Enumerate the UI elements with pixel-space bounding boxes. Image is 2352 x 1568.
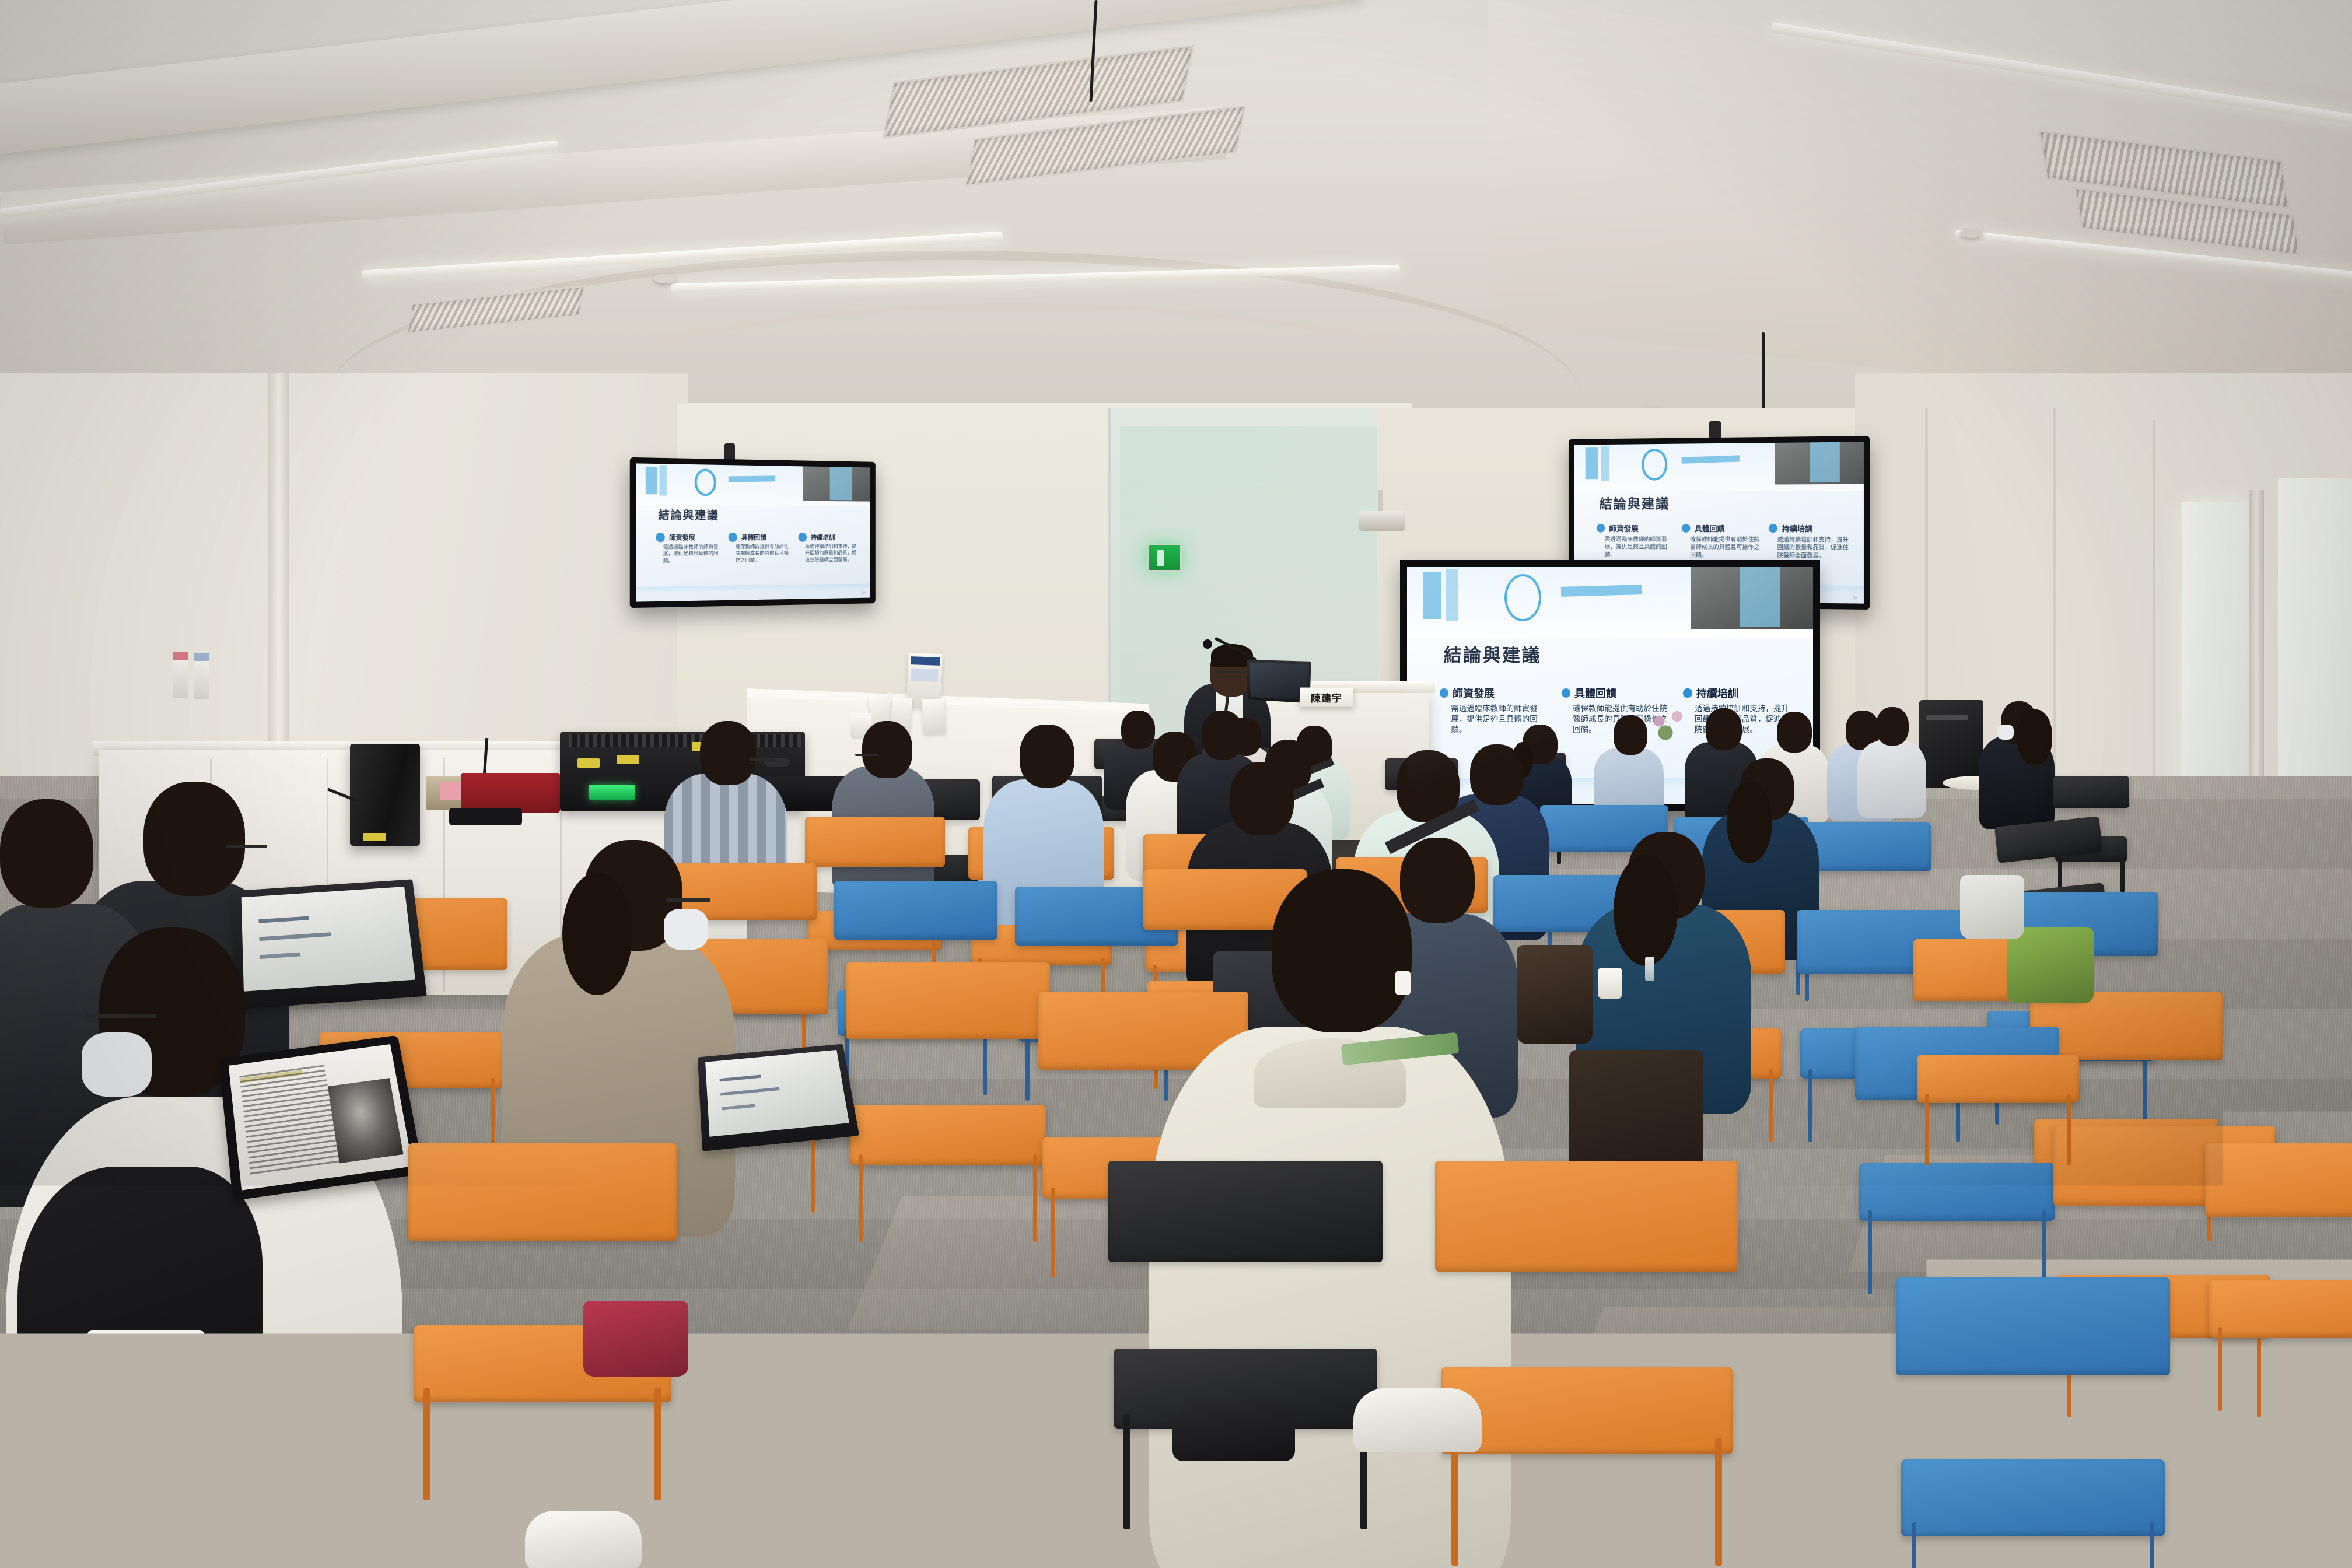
slide-accent-bar [1601,446,1609,481]
conference-room-photo: 結論與建議 師資發展 需透過臨床教師的師資發展，提供足夠且具體的回饋。 具體回饋… [0,0,2352,1568]
slide-column-heading: 師資發展 [1609,523,1638,534]
slide-column-body: 需透過臨床教師的師資發展，提供足夠且具體的回饋。 [663,544,721,565]
slide-column-body: 確保教師能提供有助於住院醫師成長的具體且可操作之回饋。 [736,544,792,564]
display-tv-left: 結論與建議 師資發展 需透過臨床教師的師資發展，提供足夠且具體的回饋。 具體回饋… [630,457,876,608]
slide-column-body: 透過持續培訓和支持，提升回饋的數量和品質，促進住院醫師全面發展。 [805,543,859,563]
attendee-head [143,782,245,896]
chair-leg [1715,1438,1722,1566]
chair-leg [1123,1414,1130,1529]
chair-back [2053,776,2129,808]
laptop-screen [242,887,415,992]
sneaker-dark [1172,1400,1295,1461]
chair-back [1896,1277,2170,1375]
slide-column: 師資發展 需透過臨床教師的師資發展，提供足夠且具體的回饋。 [656,533,721,565]
slide-column: 持續培訓 透過持續培訓和支持，提升回饋的數量和品質，促進住院醫師全面發展。 [799,533,859,563]
slide-accent-bar [646,466,657,494]
attendee-head [1706,708,1742,750]
bullet-dot-icon [729,533,737,541]
chair-leg [1451,1438,1458,1566]
chair-leg [1925,1094,1929,1165]
attendee-head [1470,744,1524,805]
attendee-head [1400,838,1475,923]
laptop-screen-text [258,895,397,982]
attendee-head [1121,710,1155,749]
brochure[interactable] [922,698,946,734]
attendee-hair [1727,782,1772,863]
presenter-glasses-icon [1218,671,1248,673]
slide-title: 結論與建議 [658,506,719,523]
bullet-dot-icon [1562,688,1570,697]
slide-title: 結論與建議 [1444,640,1541,667]
chair-back [1108,1161,1382,1262]
laptop-screen [705,1050,849,1137]
slide-column-heading: 持續培訓 [811,533,835,542]
bullet-dot-icon [1683,688,1692,697]
portable-pa-speaker [1919,700,1983,787]
chair-orange[interactable] [1435,1161,1738,1557]
chair-leg [1769,1069,1773,1142]
slide-column-heading: 師資發展 [1452,685,1494,701]
sneaker [525,1511,642,1568]
backpack [1517,945,1592,1044]
face-mask-icon [82,1032,152,1097]
slide-accent-bar [1585,447,1598,479]
slide-footer-band [636,583,870,593]
chair-leg [2218,1327,2222,1411]
paper-cup [1598,968,1622,999]
slide-accent-bar [728,476,775,482]
chair-leg [654,1388,661,1500]
slide-left: 結論與建議 師資發展 需透過臨床教師的師資發展，提供足夠且具體的回饋。 具體回饋… [636,463,870,601]
slide-column: 具體回饋 確保教師能提供有助於住院醫師成長的具體且可操作之回饋。 [1682,523,1760,559]
slide-accent-bar [1423,572,1441,619]
slide-column: 具體回饋 確保教師能提供有助於住院醫師成長的具體且可操作之回饋。 [729,533,792,564]
attendee-laptop-2[interactable] [232,879,427,1009]
chair-leg [1051,1188,1055,1277]
sneaker [752,1260,846,1312]
chair-leg [859,1154,863,1242]
face-mask-icon [664,909,708,950]
attendee-head [1230,762,1294,835]
ceiling-projector [1359,511,1405,531]
glasses-icon [226,845,267,848]
slide-column-heading: 持續培訓 [1782,523,1813,534]
chair-leg [1868,1210,1872,1294]
glasses-icon [855,754,878,756]
attendee-torso [1857,741,1926,818]
slide-page-number: 34 [862,591,866,595]
asset-label [577,758,600,768]
podium-nameplate: 陳建宇 [1299,688,1353,707]
chair-orange[interactable] [2205,1143,2352,1406]
chair-leg [423,1388,430,1500]
slide-title: 結論與建議 [1599,493,1670,513]
slide-column-body: 透過持續培訓和支持，提升回饋的數量和品質，促進住院醫師全面發展。 [1777,536,1849,560]
chair-leg [379,1515,386,1568]
bullet-dot-icon [799,533,807,541]
attendee-head [1272,869,1412,1032]
chair-back [834,881,998,940]
slide-column-heading: 師資發展 [669,533,695,542]
slide-accent-bar [659,465,667,495]
chair-leg [1033,1154,1037,1242]
av-speaker [350,744,420,846]
water-bottle [1645,957,1654,981]
chair-seat [1901,1459,2164,1536]
earbud-icon [1395,971,1410,995]
slide-column-heading: 持續培訓 [1696,685,1738,701]
chair-black[interactable] [1108,1161,1382,1522]
bullet-dot-icon [1682,524,1690,533]
slide-accent-bar [1445,569,1458,621]
wall-notice-card [194,653,209,699]
chair-orange[interactable] [846,963,1050,1237]
staff-hair [2017,709,2052,765]
slide-column-heading: 具體回饋 [741,533,766,542]
sneaker [1353,1388,1482,1452]
chair-seat [1441,1367,1732,1455]
bullet-dot-icon [1440,688,1448,697]
chair-back [846,963,1050,1039]
chair-leg [2150,1522,2154,1568]
white-bag [1960,875,2024,939]
chair-leg [1912,1522,1916,1568]
chair-seat [2209,1280,2352,1338]
chair-back [805,817,945,867]
glasses-icon [666,898,710,902]
chair-seat [1917,1055,2079,1104]
attendee-head [700,721,756,785]
slide-ring-logo-icon [1641,449,1667,480]
tablet-document-text [240,1065,339,1175]
chair-leg [2067,1094,2071,1165]
slide-column-heading: 具體回饋 [1695,523,1725,534]
chair-leg [2120,857,2124,892]
slide-ring-logo-icon [1504,574,1541,621]
chair-back [408,1143,677,1241]
asset-label [617,755,639,764]
chair-seat [82,1469,396,1520]
slide-page-number: 34 [1853,596,1858,600]
red-bag [583,1301,688,1377]
glasses-icon [86,1014,156,1019]
slide-column-heading: 具體回饋 [1574,685,1616,701]
chair-back [2205,1143,2352,1217]
slide-column: 師資發展 需透過臨床教師的師資發展，提供足夠且具體的回饋。 [1597,523,1673,559]
laptop-screen-diagram [719,1056,834,1129]
audio-mixer-knobs[interactable] [569,734,802,747]
smoke-detector-icon [1960,229,1983,238]
slide-columns: 師資發展 需透過臨床教師的師資發展，提供足夠且具體的回饋。 具體回饋 確保教師能… [1597,523,1849,560]
glasses-icon [749,758,775,761]
projector-mount [1378,490,1382,513]
bullet-dot-icon [656,533,665,542]
podium-microphone-icon [1203,639,1212,649]
smoke-detector-icon [653,274,677,283]
chair-seat [850,1105,1046,1165]
slide-columns: 師資發展 需透過臨床教師的師資發展，提供足夠且具體的回饋。 具體回饋 確保教師能… [656,533,859,565]
chair-orange[interactable] [76,1347,402,1568]
tablet-medical-image [328,1078,404,1164]
slide-header-accent-block [830,467,852,500]
slide-column-body: 確保教師能提供有助於住院醫師成長的具體且可操作之回饋。 [1690,535,1760,559]
wall-notice-card [173,652,188,698]
attendee-head [0,799,93,908]
av-remote-control[interactable] [449,808,522,825]
chair-leg [1808,1069,1812,1142]
wifi-router[interactable] [461,773,560,813]
attendee-head [862,721,912,778]
attendee-head [1613,715,1647,755]
attendee-hair [1613,855,1678,966]
bullet-dot-icon [1597,524,1605,533]
chair-back [76,1347,402,1413]
attendee-laptop[interactable] [698,1044,859,1151]
slide-header-accent-block [1740,567,1781,626]
slide-ring-logo-icon [695,468,716,496]
mixer-led-display [589,785,635,800]
chair-back [1435,1161,1738,1272]
exit-sign [1147,544,1182,572]
chair-blue[interactable] [1896,1277,2170,1568]
attendee-hair [562,873,632,995]
attendee-head [1777,712,1812,752]
slide-header-accent-block [1810,442,1840,482]
slide-column: 持續培訓 透過持續培訓和支持，提升回饋的數量和品質，促進住院醫師全面發展。 [1769,523,1849,560]
face-mask-icon [1997,724,2014,740]
tablet-screen [229,1044,413,1191]
chair-leg [92,1515,99,1568]
podium-nameplate-text: 陳建宇 [1311,690,1342,704]
attendee-head [1876,707,1909,745]
bullet-dot-icon [1769,524,1777,533]
wall-column-left [268,373,289,782]
chair-seat [1859,1163,2055,1221]
attendee-head [1202,710,1244,759]
slide-column-body: 需透過臨床教師的師資發展，提供足夠且具體的回饋。 [1605,535,1673,559]
green-bag [2007,928,2094,1003]
attendee-head [1020,724,1074,787]
attendee-tablet[interactable] [219,1035,424,1201]
